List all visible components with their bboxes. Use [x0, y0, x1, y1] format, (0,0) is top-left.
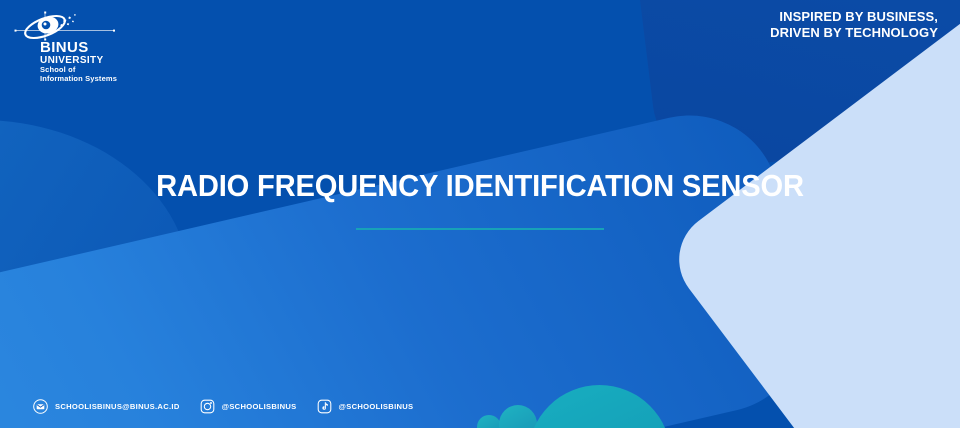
teal-circle-large — [528, 385, 671, 428]
logo-department-text: Information Systems — [40, 75, 174, 84]
page-title: RADIO FREQUENCY IDENTIFICATION SENSOR — [29, 168, 931, 204]
logo-binus-text: BINUS — [40, 40, 174, 55]
social-item-email[interactable]: SCHOOLISBINUS@BINUS.AC.ID — [33, 399, 180, 414]
social-label-email: SCHOOLISBINUS@BINUS.AC.ID — [55, 402, 180, 411]
social-item-instagram[interactable]: @SCHOOLISBINUS — [200, 399, 297, 414]
instagram-icon — [200, 399, 215, 414]
brand-tagline: INSPIRED BY BUSINESS, DRIVEN BY TECHNOLO… — [770, 9, 938, 41]
teal-circle-small — [477, 415, 501, 428]
footer-social-bar: SCHOOLISBINUS@BINUS.AC.ID @SCHOOLISBINUS — [33, 399, 433, 414]
binus-logo: BINUS UNIVERSITY School of Information S… — [14, 11, 174, 83]
email-icon — [33, 399, 48, 414]
tagline-line-2: DRIVEN BY TECHNOLOGY — [770, 25, 938, 41]
bottom-left-band-shape — [0, 98, 824, 428]
title-block: RADIO FREQUENCY IDENTIFICATION SENSOR — [0, 168, 960, 230]
tagline-line-1: INSPIRED BY BUSINESS, — [770, 9, 938, 25]
social-label-tiktok: @SCHOOLISBINUS — [339, 402, 414, 411]
tiktok-icon — [317, 399, 332, 414]
presentation-slide: BINUS UNIVERSITY School of Information S… — [0, 0, 960, 428]
binus-eye-orbit-logo-icon — [14, 11, 126, 41]
social-item-tiktok[interactable]: @SCHOOLISBINUS — [317, 399, 414, 414]
left-ellipse-shape — [0, 120, 190, 428]
social-label-instagram: @SCHOOLISBINUS — [222, 402, 297, 411]
teal-circle-medium — [499, 405, 537, 428]
title-divider — [356, 228, 604, 230]
